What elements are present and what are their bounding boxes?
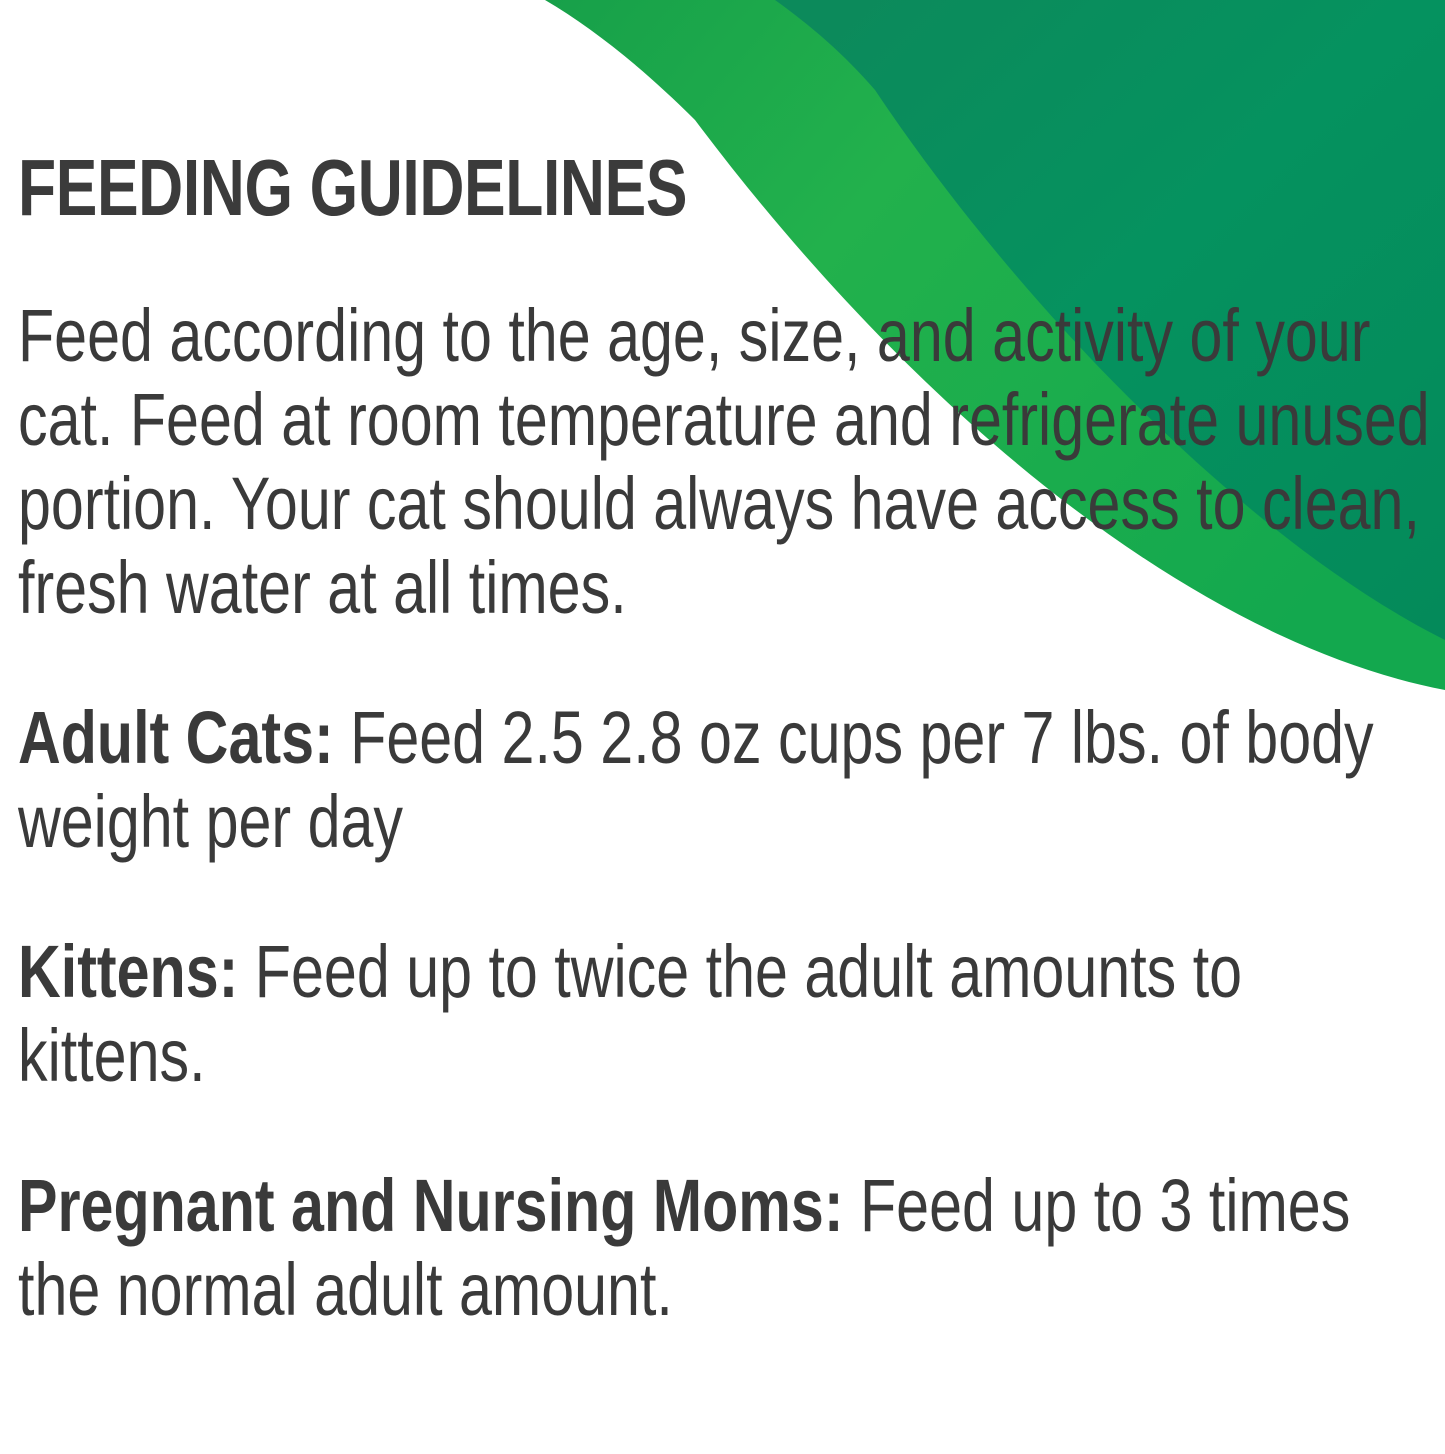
intro-paragraph: Feed according to the age, size, and act… (18, 294, 1442, 630)
content-column: FEEDING GUIDELINES Feed according to the… (0, 0, 1445, 1454)
adult-cats-section: Adult Cats: Feed 2.5 2.8 oz cups per 7 l… (18, 696, 1442, 864)
kittens-label: Kittens: (18, 930, 238, 1013)
page-title: FEEDING GUIDELINES (18, 0, 1117, 228)
pregnant-nursing-moms-section: Pregnant and Nursing Moms: Feed up to 3 … (18, 1164, 1442, 1332)
pregnant-nursing-moms-label: Pregnant and Nursing Moms: (18, 1164, 844, 1247)
adult-cats-label: Adult Cats: (18, 696, 334, 779)
kittens-section: Kittens: Feed up to twice the adult amou… (18, 930, 1442, 1098)
